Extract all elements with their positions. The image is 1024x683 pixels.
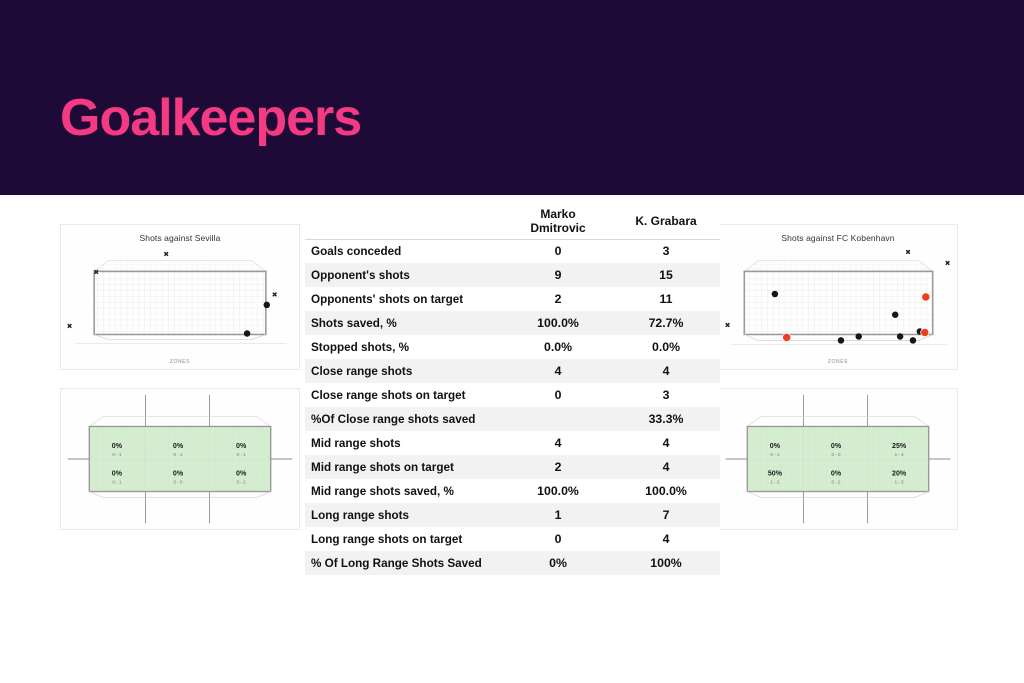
marker-off-target: ✖ <box>905 250 911 257</box>
zones-diagram-left: 0% 0 - 1 0% 0 - 1 0% 0 - 1 0% 0 - 1 0% 0… <box>61 389 299 529</box>
table-head: Marko Dmitrovic K. Grabara <box>305 205 720 239</box>
metric-value-player-2: 4 <box>612 359 720 383</box>
zone-pct: 0% <box>831 470 842 478</box>
zone-sub: 1 - 4 <box>895 452 905 457</box>
metric-value-player-2: 3 <box>612 239 720 263</box>
marker-off-target: ✖ <box>163 252 169 259</box>
metric-label: Mid range shots on target <box>305 455 504 479</box>
marker-off-target: ✖ <box>67 324 73 331</box>
zone-pct: 0% <box>112 442 123 450</box>
metric-value-player-1: 0 <box>504 383 612 407</box>
zone-sub: 0 - 2 <box>237 480 247 485</box>
zone-pct: 0% <box>236 442 247 450</box>
zone-pct: 0% <box>236 470 247 478</box>
marker-shot-saved <box>897 333 904 340</box>
shots-chart-left: Shots against Sevilla <box>60 224 300 370</box>
zone-pct: 0% <box>770 442 781 450</box>
metric-label: Close range shots <box>305 359 504 383</box>
marker-shot-saved <box>892 311 899 318</box>
marker-goal-conceded <box>783 333 791 341</box>
metric-value-player-1: 100.0% <box>504 311 612 335</box>
metric-value-player-2: 33.3% <box>612 407 720 431</box>
goalkeeper-comparison-table: Marko Dmitrovic K. Grabara Goals concede… <box>305 205 720 575</box>
zones-caption-right: ZONES <box>719 359 957 365</box>
table-row: %Of Close range shots saved33.3% <box>305 407 720 431</box>
metric-label: Mid range shots saved, % <box>305 479 504 503</box>
goal-diagram-left: ✖ ✖ ✖ ✖ <box>61 225 299 369</box>
metric-value-player-1: 0 <box>504 527 612 551</box>
marker-shot-saved <box>855 333 862 340</box>
player-1-first-name: Marko <box>504 207 612 221</box>
metric-value-player-2: 72.7% <box>612 311 720 335</box>
marker-shot-saved <box>264 302 271 309</box>
metric-label: % Of Long Range Shots Saved <box>305 551 504 575</box>
metric-value-player-2: 100.0% <box>612 479 720 503</box>
table-row: Mid range shots44 <box>305 431 720 455</box>
metric-label: Long range shots on target <box>305 527 504 551</box>
metric-value-player-2: 0.0% <box>612 335 720 359</box>
metric-value-player-2: 4 <box>612 527 720 551</box>
metric-value-player-1: 2 <box>504 455 612 479</box>
goal-diagram-right: ✖ ✖ ✖ <box>719 225 957 369</box>
table-row: Long range shots on target04 <box>305 527 720 551</box>
slide-root: Goalkeepers Shots against Sevilla <box>0 0 1024 683</box>
metric-value-player-1: 9 <box>504 263 612 287</box>
metric-value-player-2: 4 <box>612 431 720 455</box>
zones-chart-right: 0% 0 - 1 0% 0 - 0 25% 1 - 4 50% 1 - 2 0%… <box>718 388 958 530</box>
marker-goal-conceded <box>922 293 930 301</box>
metric-label: Close range shots on target <box>305 383 504 407</box>
table-row: Long range shots17 <box>305 503 720 527</box>
marker-shot-saved <box>910 337 917 344</box>
marker-off-target: ✖ <box>945 260 951 267</box>
player-2-last-name: K. Grabara <box>612 214 720 228</box>
zone-pct: 0% <box>173 442 184 450</box>
zone-sub: 0 - 1 <box>237 452 247 457</box>
metric-value-player-1: 4 <box>504 431 612 455</box>
zones-chart-left: 0% 0 - 1 0% 0 - 1 0% 0 - 1 0% 0 - 1 0% 0… <box>60 388 300 530</box>
table-row: Stopped shots, %0.0%0.0% <box>305 335 720 359</box>
marker-off-target: ✖ <box>725 323 731 330</box>
zones-diagram-right: 0% 0 - 1 0% 0 - 0 25% 1 - 4 50% 1 - 2 0%… <box>719 389 957 529</box>
zone-sub: 0 - 2 <box>832 480 842 485</box>
table-body: Goals conceded03Opponent's shots915Oppon… <box>305 239 720 575</box>
marker-shot-saved <box>838 337 845 344</box>
metric-value-player-1: 100.0% <box>504 479 612 503</box>
marker-shot-saved <box>772 291 779 298</box>
metric-value-player-1: 2 <box>504 287 612 311</box>
table-row: Close range shots44 <box>305 359 720 383</box>
metric-value-player-1: 1 <box>504 503 612 527</box>
zone-sub: 0 - 1 <box>174 452 184 457</box>
zone-sub: 0 - 1 <box>112 480 122 485</box>
shots-chart-right: Shots against FC Kobenhavn ✖ ✖ ✖ <box>718 224 958 370</box>
zone-sub: 1 - 2 <box>770 480 780 485</box>
metric-value-player-1 <box>504 407 612 431</box>
zone-sub: 0 - 1 <box>112 452 122 457</box>
metric-value-player-2: 100% <box>612 551 720 575</box>
metric-label: Opponent's shots <box>305 263 504 287</box>
metric-label: %Of Close range shots saved <box>305 407 504 431</box>
column-header-player-2: K. Grabara <box>612 205 720 239</box>
table-row: Opponents' shots on target211 <box>305 287 720 311</box>
zone-pct: 0% <box>173 470 184 478</box>
table-row: Goals conceded03 <box>305 239 720 263</box>
table-row: Opponent's shots915 <box>305 263 720 287</box>
marker-off-target: ✖ <box>272 292 278 299</box>
metric-value-player-2: 3 <box>612 383 720 407</box>
metric-value-player-2: 11 <box>612 287 720 311</box>
column-header-player-1: Marko Dmitrovic <box>504 205 612 239</box>
marker-goal-conceded <box>921 328 929 336</box>
metric-value-player-2: 4 <box>612 455 720 479</box>
metric-value-player-2: 7 <box>612 503 720 527</box>
marker-off-target: ✖ <box>93 269 99 276</box>
table-row: Mid range shots on target24 <box>305 455 720 479</box>
metric-value-player-2: 15 <box>612 263 720 287</box>
metric-label: Shots saved, % <box>305 311 504 335</box>
zone-pct: 50% <box>768 470 783 478</box>
table-row: Mid range shots saved, %100.0%100.0% <box>305 479 720 503</box>
metric-value-player-1: 0% <box>504 551 612 575</box>
metric-label: Mid range shots <box>305 431 504 455</box>
metric-label: Opponents' shots on target <box>305 287 504 311</box>
zone-sub: 1 - 5 <box>895 480 905 485</box>
page-title: Goalkeepers <box>60 92 361 144</box>
metric-label: Long range shots <box>305 503 504 527</box>
table-row: % Of Long Range Shots Saved0%100% <box>305 551 720 575</box>
zone-pct: 0% <box>112 470 123 478</box>
metric-value-player-1: 4 <box>504 359 612 383</box>
zone-sub: 0 - 0 <box>174 480 184 485</box>
metric-value-player-1: 0 <box>504 239 612 263</box>
metric-label: Goals conceded <box>305 239 504 263</box>
table-header-row: Marko Dmitrovic K. Grabara <box>305 205 720 239</box>
zone-pct: 25% <box>892 442 907 450</box>
zone-sub: 0 - 0 <box>832 452 842 457</box>
metric-value-player-1: 0.0% <box>504 335 612 359</box>
player-1-last-name: Dmitrovic <box>504 221 612 235</box>
zones-caption-left: ZONES <box>61 359 299 365</box>
table-row: Close range shots on target03 <box>305 383 720 407</box>
zone-pct: 0% <box>831 442 842 450</box>
marker-shot-saved <box>244 330 251 337</box>
zone-sub: 0 - 1 <box>770 452 780 457</box>
table-row: Shots saved, %100.0%72.7% <box>305 311 720 335</box>
zone-pct: 20% <box>892 470 907 478</box>
column-header-metric <box>305 205 504 239</box>
metric-label: Stopped shots, % <box>305 335 504 359</box>
